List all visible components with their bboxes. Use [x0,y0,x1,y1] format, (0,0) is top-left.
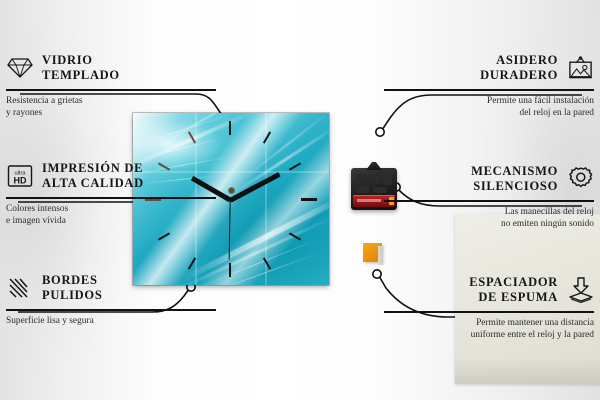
hanging-frame-icon [567,55,594,82]
infographic-stage: VIDRIO TEMPLADO Resistencia a grietas y … [0,0,600,400]
ultra-hd-icon: ultra HD [6,163,33,190]
feature-subtitle: Resistencia a grietas y rayones [6,95,216,119]
foam-spacer [363,243,382,262]
clock-tick [158,232,170,240]
feature-title: IMPRESIÓN DE ALTA CALIDAD [42,161,144,192]
feature-vidrio-templado: VIDRIO TEMPLADO Resistencia a grietas y … [6,48,216,119]
feature-title: BORDES PULIDOS [42,273,102,304]
feature-divider [384,89,594,91]
feature-header: BORDES PULIDOS [6,268,216,308]
svg-text:HD: HD [13,176,26,186]
gear-icon [567,166,594,193]
diamond-icon [6,55,33,82]
clock-tick [289,162,301,170]
clock-tick [229,263,231,277]
connector-dot-asidero [376,128,384,136]
feature-title: MECANISMO SILENCIOSO [471,164,558,195]
feature-header: VIDRIO TEMPLADO [6,48,216,88]
feature-divider [384,311,594,313]
feature-header: ASIDERO DURADERO [384,48,594,88]
feature-impresion-alta-calidad: ultra HD IMPRESIÓN DE ALTA CALIDAD Color… [6,156,216,227]
feature-divider [384,200,594,202]
clock-tick [301,198,317,201]
feature-divider [6,89,216,91]
feature-header: MECANISMO SILENCIOSO [384,159,594,199]
feature-subtitle: Permite mantener una distancia uniforme … [384,317,594,341]
down-arrow-pad-icon [567,277,594,304]
feature-divider [6,197,216,199]
feature-title: ASIDERO DURADERO [480,53,558,84]
feature-mecanismo-silencioso: MECANISMO SILENCIOSO Las manecillas del … [384,159,594,230]
feature-subtitle: Permite una fácil instalación del reloj … [384,95,594,119]
feature-title: VIDRIO TEMPLADO [42,53,120,84]
clock-center-cap [229,188,234,193]
feature-title: ESPACIADOR DE ESPUMA [469,275,558,306]
feature-header: ultra HD IMPRESIÓN DE ALTA CALIDAD [6,156,216,196]
feature-divider [6,309,216,311]
feature-asidero-duradero: ASIDERO DURADERO Permite una fácil insta… [384,48,594,119]
feature-bordes-pulidos: BORDES PULIDOS Superficie lisa y segura [6,268,216,327]
feature-subtitle: Las manecillas del reloj no emiten ningú… [384,206,594,230]
mechanism-hanger [366,162,382,170]
polished-edges-icon [6,275,33,302]
feature-espaciador-de-espuma: ESPACIADOR DE ESPUMA Permite mantener un… [384,270,594,341]
feature-subtitle: Colores intensos e imagen vívida [6,203,216,227]
connector-dot-espaciador [373,270,381,278]
clock-tick [229,121,231,135]
feature-subtitle: Superficie lisa y segura [6,315,216,327]
feature-header: ESPACIADOR DE ESPUMA [384,270,594,310]
